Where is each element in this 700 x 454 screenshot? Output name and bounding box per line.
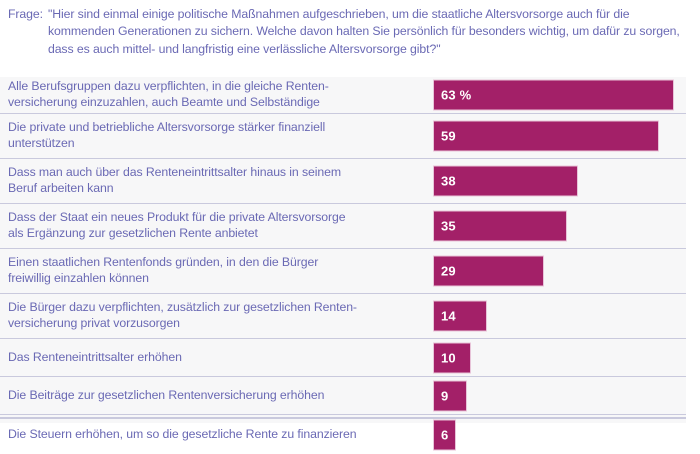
bar: 35: [433, 211, 567, 242]
bar-category-label-line: Die Bürger dazu verpflichten, zusätzlich…: [8, 300, 424, 316]
bar-track: 38: [430, 159, 686, 203]
bar-category-label-line: unterstützen: [8, 136, 424, 152]
bar-category-label: Das Renteneintrittsalter erhöhen: [0, 350, 430, 366]
bar-category-label: Die Bürger dazu verpflichten, zusätzlich…: [0, 300, 430, 331]
bar: 9: [433, 380, 467, 411]
bar-category-label-line: Dass der Staat ein neues Produkt für die…: [8, 210, 424, 226]
chart-page: Frage: "Hier sind einmal einige politisc…: [0, 0, 700, 423]
bar-category-label: Alle Berufsgruppen dazu verpflichten, in…: [0, 79, 430, 110]
table-row: Dass der Staat ein neues Produkt für die…: [0, 203, 686, 248]
bar-track: 35: [430, 204, 686, 248]
bar-category-label: Einen staatlichen Rentenfonds gründen, i…: [0, 255, 430, 286]
bottom-divider: [0, 417, 686, 419]
bar: 29: [433, 256, 544, 287]
bar-category-label: Dass man auch über das Renteneintrittsal…: [0, 165, 430, 196]
table-row: Dass man auch über das Renteneintrittsal…: [0, 158, 686, 203]
question-block: Frage: "Hier sind einmal einige politisc…: [0, 0, 700, 62]
table-row: Die Bürger dazu verpflichten, zusätzlich…: [0, 293, 686, 338]
bar-category-label: Die Beiträge zur gesetzlichen Rentenvers…: [0, 388, 430, 404]
question-text: "Hier sind einmal einige politische Maßn…: [48, 6, 693, 58]
bar-track: 59: [430, 114, 686, 158]
bar-value-label: 6: [434, 427, 448, 442]
bar-value-label: 38: [434, 174, 456, 189]
bar-category-label-line: Dass man auch über das Renteneintrittsal…: [8, 165, 424, 181]
bar-track: 14: [430, 294, 686, 338]
bar-value-label: 9: [434, 388, 448, 403]
question-label: Frage:: [8, 6, 48, 23]
bar-value-label: 14: [434, 309, 456, 324]
bar-category-label-line: Beruf arbeiten kann: [8, 181, 424, 197]
bar-value-label: 59: [434, 129, 456, 144]
bar-value-label: 35: [434, 219, 456, 234]
bar-value-label: 10: [434, 350, 456, 365]
bar: 63 %: [433, 80, 674, 111]
table-row: Die Beiträge zur gesetzlichen Rentenvers…: [0, 376, 686, 414]
bar-category-label-line: Die private und betriebliche Altersvorso…: [8, 120, 424, 136]
bar: 59: [433, 121, 659, 152]
table-row: Einen staatlichen Rentenfonds gründen, i…: [0, 248, 686, 293]
table-row: Alle Berufsgruppen dazu verpflichten, in…: [0, 77, 686, 113]
bar-category-label: Die Steuern erhöhen, um so die gesetzlic…: [0, 427, 430, 443]
bar-track: 10: [430, 339, 686, 376]
bar-category-label: Dass der Staat ein neues Produkt für die…: [0, 210, 430, 241]
table-row: Die Steuern erhöhen, um so die gesetzlic…: [0, 414, 686, 454]
bar-track: 9: [430, 377, 686, 414]
bar-category-label-line: Das Renteneintrittsalter erhöhen: [8, 350, 424, 366]
bar-value-label: 63 %: [434, 88, 471, 103]
bar-category-label-line: Die Beiträge zur gesetzlichen Rentenvers…: [8, 388, 424, 404]
bar-track: 63 %: [430, 77, 686, 113]
bar-track: 6: [430, 415, 686, 454]
bar-value-label: 29: [434, 264, 456, 279]
bar-category-label-line: Einen staatlichen Rentenfonds gründen, i…: [8, 255, 424, 271]
bar-track: 29: [430, 249, 686, 293]
bar-category-label: Die private und betriebliche Altersvorso…: [0, 120, 430, 151]
table-row: Das Renteneintrittsalter erhöhen10: [0, 338, 686, 376]
bar-category-label-line: als Ergänzung zur gesetzlichen Rente anb…: [8, 226, 424, 242]
bar: 38: [433, 166, 578, 197]
bar-category-label-line: freiwillig einzahlen können: [8, 271, 424, 287]
table-row: Die private und betriebliche Altersvorso…: [0, 113, 686, 158]
bar: 14: [433, 301, 487, 332]
bar-chart: Alle Berufsgruppen dazu verpflichten, in…: [0, 77, 686, 423]
bar: 6: [433, 419, 456, 450]
bar-category-label-line: Alle Berufsgruppen dazu verpflichten, in…: [8, 79, 424, 95]
bar-category-label-line: versicherung einzuzahlen, auch Beamte un…: [8, 95, 424, 111]
bar-category-label-line: Die Steuern erhöhen, um so die gesetzlic…: [8, 427, 424, 443]
bar: 10: [433, 342, 471, 373]
question-row: Frage: "Hier sind einmal einige politisc…: [8, 6, 696, 58]
bar-category-label-line: versicherung privat vorzusorgen: [8, 316, 424, 332]
